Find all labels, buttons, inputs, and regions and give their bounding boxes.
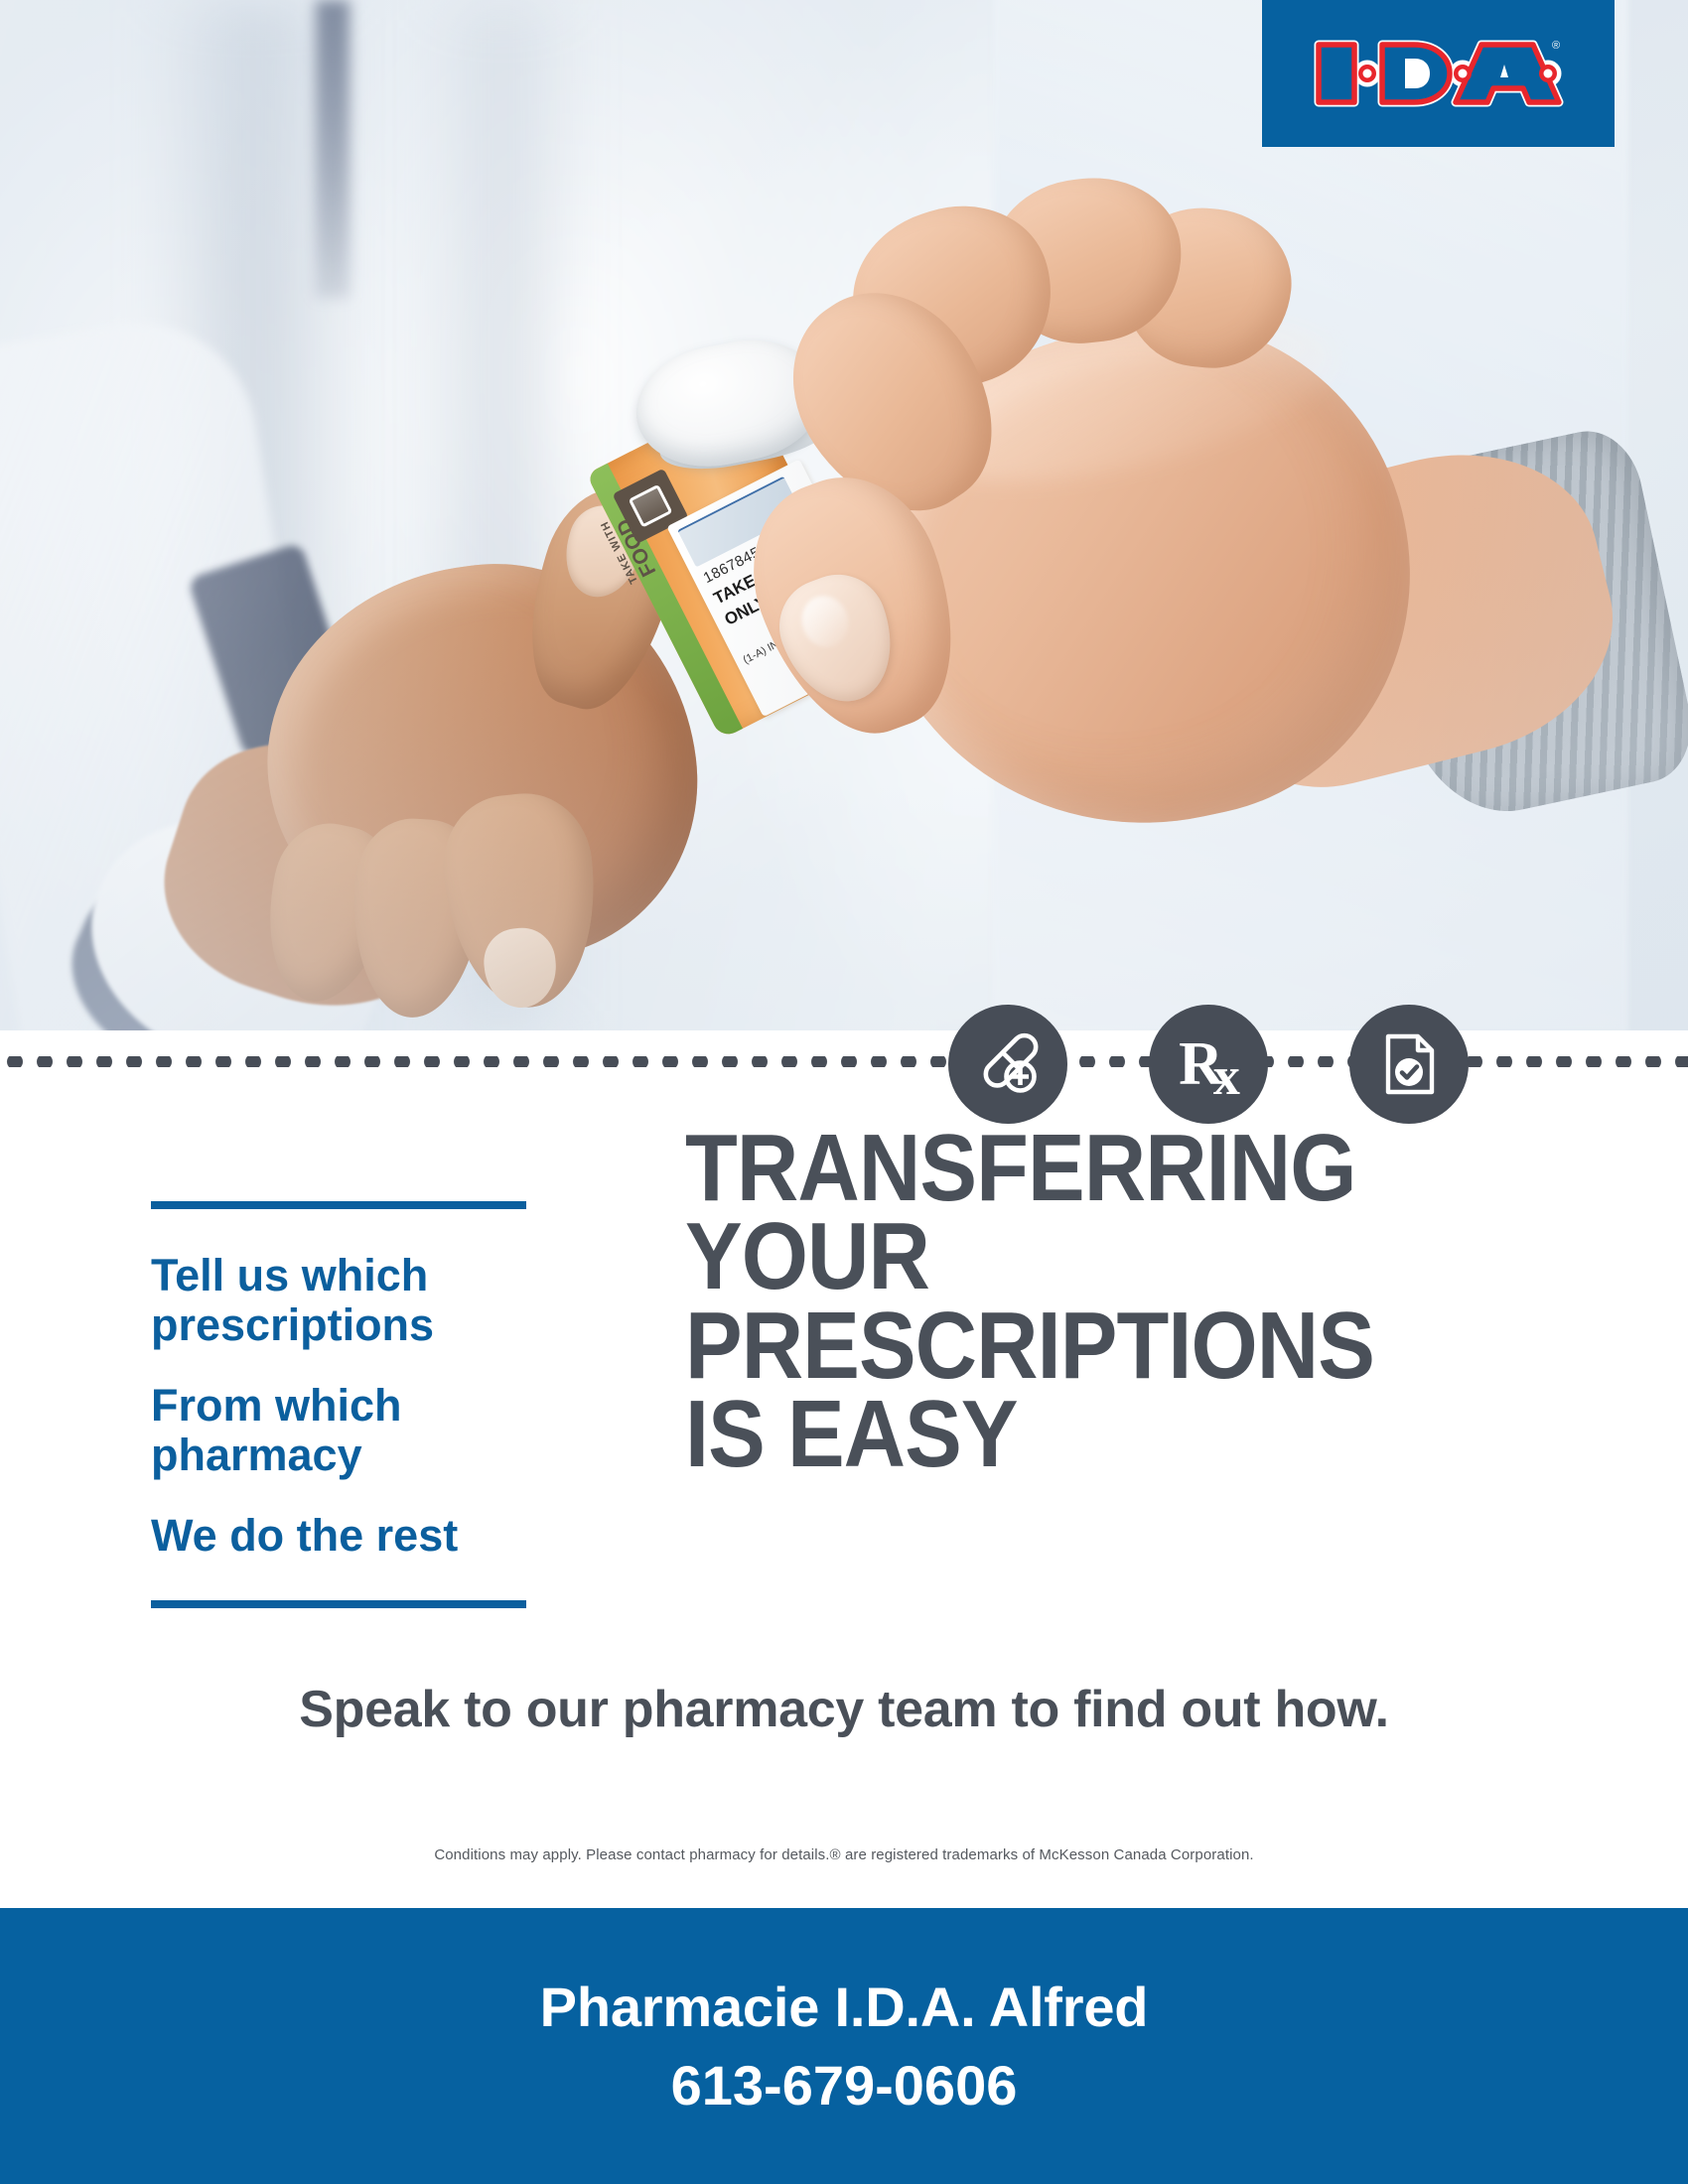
legal-disclaimer: Conditions may apply. Please contact pha… [0, 1846, 1688, 1863]
document-check-icon [1349, 1005, 1469, 1124]
steps-list: Tell us which prescriptions From which p… [151, 1201, 528, 1608]
rx-icon: Rx [1149, 1005, 1268, 1124]
main-content: Tell us which prescriptions From which p… [0, 1124, 1688, 1640]
step-item-3: We do the rest [151, 1511, 528, 1561]
content-columns: Tell us which prescriptions From which p… [0, 1124, 1688, 1640]
svg-text:®: ® [1552, 40, 1560, 52]
step-item-2: From which pharmacy [151, 1381, 528, 1481]
hero-photo-banner: TAKE WITH FOOD 1867845 TAKE 1 TA ONLY 2 … [0, 0, 1688, 1030]
ida-logo[interactable]: ® [1262, 0, 1615, 147]
pharmacy-phone[interactable]: 613-679-0606 [671, 2053, 1018, 2117]
headline-line-2: YOUR [685, 1212, 1472, 1300]
rx-glyph: Rx [1179, 1033, 1238, 1095]
pharmacy-name: Pharmacie I.D.A. Alfred [540, 1975, 1149, 2039]
steps-bottom-rule [151, 1600, 526, 1608]
step-item-1: Tell us which prescriptions [151, 1251, 528, 1351]
headline-line-1: TRANSFERRING [685, 1124, 1472, 1212]
headline-line-4: IS EASY [685, 1390, 1472, 1478]
subheading: Speak to our pharmacy team to find out h… [0, 1680, 1688, 1739]
rx-letter-x: x [1213, 1049, 1238, 1103]
pills-plus-icon [948, 1005, 1067, 1124]
steps-top-rule [151, 1201, 526, 1209]
pharmacy-footer: Pharmacie I.D.A. Alfred 613-679-0606 [0, 1908, 1688, 2184]
page-headline: TRANSFERRING YOUR PRESCRIPTIONS IS EASY [685, 1124, 1472, 1478]
navy-collar [316, 0, 350, 298]
customer-hand [695, 169, 1569, 963]
service-icons-row: Rx [948, 1005, 1504, 1124]
headline-line-3: PRESCRIPTIONS [685, 1301, 1472, 1390]
pharmacy-handoff-photo: TAKE WITH FOOD 1867845 TAKE 1 TA ONLY 2 … [0, 0, 1688, 1030]
icon-divider: Rx [0, 1005, 1688, 1124]
ida-logo-mark: ® [1311, 31, 1567, 116]
